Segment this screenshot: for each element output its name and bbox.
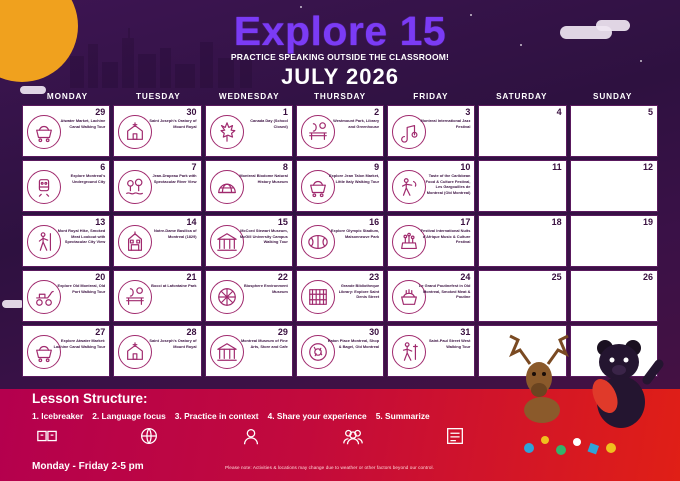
calendar-week-row: 29Atwater Market, Lachine Canal Walking … [22,105,658,157]
day-number: 11 [552,163,562,172]
calendar-day-cell[interactable]: 25 [478,270,566,322]
calendar-day-cell[interactable]: 19 [570,215,658,267]
day-activity-label: Montreal Biodome Natural History Museum [236,173,288,184]
calendar-day-headers: MONDAYTUESDAYWEDNESDAYTHURSDAYFRIDAYSATU… [22,92,658,105]
day-number: 24 [460,273,470,282]
calendar-week-row: 20Explore Old Montreal, Old Port Walking… [22,270,658,322]
calendar-day-header: THURSDAY [295,92,386,105]
calendar-day-cell[interactable]: 5 [570,105,658,157]
calendar-day-cell[interactable]: 14Notre-Dame Basilica of Montreal (1829) [113,215,201,267]
day-number: 16 [369,218,379,227]
day-number: 31 [460,328,470,337]
day-activity-label: Montreal Museum of Fine Arts, Store and … [236,338,288,349]
day-activity-label: Explore Montreal's Underground City [53,173,105,184]
calendar-day-cell[interactable]: 21Bocci at Lafontaine Park [113,270,201,322]
day-number: 19 [643,218,653,227]
icebreaker-icon [36,425,58,447]
day-activity-label: Bocci at Lafontaine Park [145,283,197,289]
day-number: 5 [648,108,653,117]
calendar-day-cell[interactable]: 23Grande Bibliotheque Library: Explore S… [296,270,384,322]
calendar-day-header: MONDAY [22,92,113,105]
share-experience-icon [342,425,364,447]
day-number: 17 [460,218,470,227]
calendar-day-cell[interactable]: 22Biosphere Environment Museum [205,270,293,322]
lesson-structure-title: Lesson Structure: [32,391,148,406]
calendar-day-cell[interactable]: 30Saint Joseph's Oratory of Mount Royal [113,105,201,157]
calendar-day-header: SATURDAY [476,92,567,105]
calendar-day-header: FRIDAY [385,92,476,105]
day-number: 13 [95,218,105,227]
calendar-day-header: TUESDAY [113,92,204,105]
day-activity-label: Grande Bibliotheque Library: Explore Sai… [327,283,379,300]
lesson-step: 3. Practice in context [175,411,259,421]
day-activity-label: Taste of the Caribbean Food & Culture Fe… [418,173,470,196]
calendar-day-cell[interactable]: 13Mont Royal Hike, Smoked Meat Lookout w… [22,215,110,267]
lesson-step-icons [36,425,466,447]
lesson-steps-list: 1. Icebreaker2. Language focus3. Practic… [32,411,439,421]
lesson-step: 5. Summarize [376,411,430,421]
day-number: 30 [187,108,197,117]
lesson-step: 4. Share your experience [268,411,367,421]
day-activity-label: Jean-Drapeau Park with Spectacular River… [145,173,197,184]
day-number: 29 [278,328,288,337]
calendar-day-cell[interactable]: 4 [478,105,566,157]
calendar-day-cell[interactable]: 31Saint-Paul Street West Walking Tour [387,325,475,377]
calendar-day-cell[interactable]: 26 [570,270,658,322]
day-number: 18 [552,218,562,227]
day-activity-label: Mont Royal Hike, Smoked Meat Lookout wit… [53,228,105,245]
calendar-day-cell[interactable]: 1Canada Day (School Closed) [205,105,293,157]
day-activity-label: Notre-Dame Basilica of Montreal (1829) [145,228,197,239]
day-number: 2 [374,108,379,117]
day-activity-label: Le Grand Poutinefest in Old Montreal, Sm… [418,283,470,300]
calendar-day-cell[interactable]: 27Explore Atwater Market: Lachine Canal … [22,325,110,377]
calendar-day-cell[interactable]: 6Explore Montreal's Underground City [22,160,110,212]
day-number: 23 [369,273,379,282]
day-activity-label: Saint-Paul Street West Walking Tour [418,338,470,349]
day-number: 28 [187,328,197,337]
calendar-day-cell[interactable]: 10Taste of the Caribbean Food & Culture … [387,160,475,212]
bear-mascot [575,330,675,430]
calendar-day-cell[interactable]: 2Westmount Park, Library and Greenhouse [296,105,384,157]
day-number: 21 [187,273,197,282]
language-focus-icon [138,425,160,447]
calendar-day-cell[interactable]: 15McCord Stewart Museum, McGill Universi… [205,215,293,267]
day-number: 29 [95,108,105,117]
month-year-label: JULY 2026 [0,64,680,90]
page-title: Explore 15 [0,8,680,55]
day-activity-label: Canada Day (School Closed) [236,118,288,129]
calendar-day-cell[interactable]: 3Montreal International Jazz Festival [387,105,475,157]
confetti-decoration [515,430,635,480]
calendar-day-cell[interactable]: 29Montreal Museum of Fine Arts, Store an… [205,325,293,377]
lesson-step: 2. Language focus [92,411,166,421]
day-activity-label: Explore Atwater Market: Lachine Canal Wa… [53,338,105,349]
disclaimer-text: Please note: Activities & locations may … [225,465,434,470]
calendar-day-cell[interactable]: 24Le Grand Poutinefest in Old Montreal, … [387,270,475,322]
day-number: 15 [278,218,288,227]
summarize-icon [444,425,466,447]
day-activity-label: Explore Jean Talon Market, Little Italy … [327,173,379,184]
day-number: 14 [187,218,197,227]
calendar-day-cell[interactable]: 30Eaton Place Montreal, Shop & Bagel, Ol… [296,325,384,377]
day-number: 1 [283,108,288,117]
day-number: 4 [557,108,562,117]
day-number: 26 [643,273,653,282]
lesson-step: 1. Icebreaker [32,411,83,421]
day-number: 9 [374,163,379,172]
day-number: 3 [465,108,470,117]
calendar-day-header: WEDNESDAY [204,92,295,105]
poster-root: Explore 15 PRACTICE SPEAKING OUTSIDE THE… [0,0,680,481]
calendar-day-cell[interactable]: 7Jean-Drapeau Park with Spectacular Rive… [113,160,201,212]
calendar-week-row: 13Mont Royal Hike, Smoked Meat Lookout w… [22,215,658,267]
day-activity-label: Atwater Market, Lachine Canal Walking To… [53,118,105,129]
page-subtitle: PRACTICE SPEAKING OUTSIDE THE CLASSROOM! [0,52,680,62]
day-number: 20 [95,273,105,282]
calendar-day-header: SUNDAY [567,92,658,105]
day-activity-label: Westmount Park, Library and Greenhouse [327,118,379,129]
day-number: 25 [552,273,562,282]
day-number: 30 [369,328,379,337]
calendar-day-cell[interactable]: 9Explore Jean Talon Market, Little Italy… [296,160,384,212]
day-number: 22 [278,273,288,282]
day-activity-label: Biosphere Environment Museum [236,283,288,294]
day-number: 10 [460,163,470,172]
day-activity-label: McCord Stewart Museum, McGill University… [236,228,288,245]
calendar-day-cell[interactable]: 17Festival International Nuits d'Afrique… [387,215,475,267]
calendar-week-row: 6Explore Montreal's Underground City7Jea… [22,160,658,212]
day-activity-label: Montreal International Jazz Festival [418,118,470,129]
day-number: 8 [283,163,288,172]
day-activity-label: Festival International Nuits d'Afrique M… [418,228,470,245]
calendar-day-cell[interactable]: 18 [478,215,566,267]
day-number: 12 [643,163,653,172]
calendar-day-cell[interactable]: 20Explore Old Montreal, Old Port Walking… [22,270,110,322]
calendar-day-cell[interactable]: 16Explore Olympic Stadium, Maisonneuve P… [296,215,384,267]
cloud-decoration [2,300,24,308]
day-activity-label: Explore Olympic Stadium, Maisonneuve Par… [327,228,379,239]
calendar-day-cell[interactable]: 11 [478,160,566,212]
day-activity-label: Saint Joseph's Oratory of Mount Royal [145,118,197,129]
calendar-day-cell[interactable]: 28Saint Joseph's Oratory of Mount Royal [113,325,201,377]
calendar-day-cell[interactable]: 12 [570,160,658,212]
day-activity-label: Explore Old Montreal, Old Port Walking T… [53,283,105,294]
calendar-day-cell[interactable]: 8Montreal Biodome Natural History Museum [205,160,293,212]
hours-label: Monday - Friday 2-5 pm [32,461,144,472]
day-number: 7 [192,163,197,172]
day-number: 27 [95,328,105,337]
day-activity-label: Eaton Place Montreal, Shop & Bagel, Old … [327,338,379,349]
practice-context-icon [240,425,262,447]
day-activity-label: Saint Joseph's Oratory of Mount Royal [145,338,197,349]
calendar-day-cell[interactable]: 29Atwater Market, Lachine Canal Walking … [22,105,110,157]
day-number: 6 [100,163,105,172]
